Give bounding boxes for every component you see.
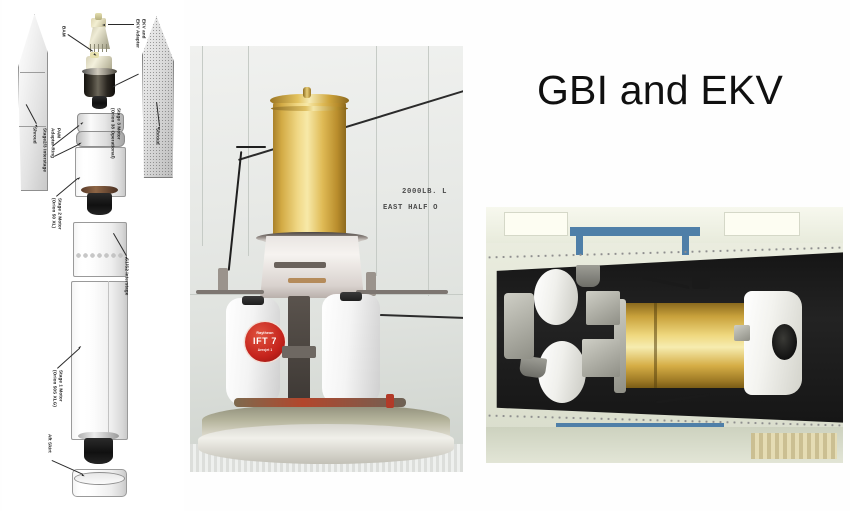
gbi-exploded-diagram: EKV and EKV Adapter BAM Stage 3 Motor (O… bbox=[2, 0, 184, 511]
gold-canister-band-top bbox=[271, 106, 348, 111]
stage1-nozzle bbox=[84, 438, 113, 464]
gold-canister bbox=[273, 103, 346, 240]
slide-root: GBI and EKV bbox=[0, 0, 850, 511]
center-valve bbox=[282, 346, 316, 358]
label-pam-adapter-ring: PAM Adapter Ring bbox=[50, 128, 61, 158]
dome-latch bbox=[734, 325, 750, 341]
label-shroud-left: Shroud bbox=[32, 127, 38, 144]
stage1-seam bbox=[108, 281, 109, 438]
label-stage1-motor: Stage 1 Motor (Orion 50S XLG) bbox=[52, 370, 63, 407]
ekv-gold-body bbox=[622, 303, 750, 388]
bus-cabling-2 bbox=[288, 278, 326, 283]
base-cabling bbox=[234, 398, 406, 407]
blue-frame-top bbox=[570, 227, 700, 236]
bus-rail-right bbox=[356, 290, 448, 294]
ekv-in-canister-photo bbox=[486, 207, 843, 463]
leader-aft-skirt bbox=[52, 460, 83, 474]
wall-text-line-2: EAST HALF O bbox=[383, 204, 438, 212]
mission-patch: Raytheon IFT 7 Aerojet 1 bbox=[245, 322, 285, 362]
s1s2-interstage-ring-detail bbox=[75, 250, 123, 261]
blue-frame-leg-1 bbox=[576, 233, 583, 255]
propellant-tank-right bbox=[322, 294, 380, 406]
ceiling-light-2 bbox=[724, 212, 800, 236]
label-stage23-interstage: Stage2/3 Interstage bbox=[42, 128, 48, 172]
label-s1s2-interstage: S1/S2 Interstage bbox=[124, 258, 130, 295]
wall-seam-1 bbox=[248, 46, 249, 256]
gbi-payload-stack-photo: 2000LB. L EAST HALF O Raytheon IFT 7 Aer… bbox=[190, 46, 463, 472]
avionics-cluster-2 bbox=[582, 339, 620, 377]
wall-text-line-1: 2000LB. L bbox=[402, 188, 447, 196]
stage3-nozzle bbox=[92, 96, 107, 109]
shroud-left-seam-1 bbox=[20, 72, 45, 73]
divert-thruster-upper bbox=[576, 265, 600, 287]
avionics-cluster-1 bbox=[586, 291, 620, 325]
label-shroud-right: Shroud bbox=[155, 128, 161, 145]
tank-cap-right bbox=[340, 292, 362, 301]
ekv-gold-seam bbox=[654, 303, 657, 388]
stage3-motor-topring bbox=[82, 68, 117, 75]
avionics-cluster-3 bbox=[504, 293, 534, 359]
shroud-right-half bbox=[142, 16, 174, 178]
arrow-ekv bbox=[102, 24, 105, 26]
ekv-seeker-icon bbox=[95, 13, 102, 20]
stage1-motor-case bbox=[71, 281, 128, 440]
ekv-tank-upper bbox=[534, 269, 578, 325]
ceiling-light-1 bbox=[504, 212, 568, 236]
bus-fitting-left bbox=[218, 268, 228, 292]
leader-bam bbox=[68, 34, 93, 51]
patch-brand: Raytheon bbox=[245, 331, 285, 335]
wall-seam-2 bbox=[376, 46, 377, 276]
leader-stage3 bbox=[115, 74, 139, 86]
stage2-nozzle bbox=[87, 193, 112, 215]
tank-cap-left bbox=[242, 296, 264, 305]
wall-seam-3 bbox=[428, 46, 429, 296]
label-stage3-motor: Stage 3 Motor (Orion 38 Operational) bbox=[110, 108, 121, 159]
label-bam: BAM bbox=[61, 26, 67, 37]
base-stand-bolt bbox=[386, 394, 394, 408]
bus-cabling-1 bbox=[274, 262, 326, 268]
patch-mission: IFT 7 bbox=[245, 336, 285, 346]
page-title: GBI and EKV bbox=[500, 68, 820, 113]
floor-grate bbox=[751, 433, 837, 459]
wall-seam-4 bbox=[202, 46, 203, 246]
leader-ekv bbox=[108, 24, 134, 25]
patch-subtitle: Aerojet 1 bbox=[245, 348, 285, 352]
shroud-texture bbox=[143, 17, 173, 177]
handling-ring-lower bbox=[198, 424, 454, 464]
label-stage2-motor: Stage 2 Motor (Orion 50 XL) bbox=[51, 198, 62, 230]
seeker-aperture bbox=[772, 324, 797, 360]
harness-connector bbox=[692, 277, 710, 289]
bus-rail-left bbox=[196, 290, 264, 294]
label-ekv-and-adapter: EKV and EKV Adapter bbox=[135, 19, 146, 48]
lifting-knob-icon bbox=[303, 87, 311, 98]
label-aft-skirt: Aft Skirt bbox=[47, 434, 53, 453]
